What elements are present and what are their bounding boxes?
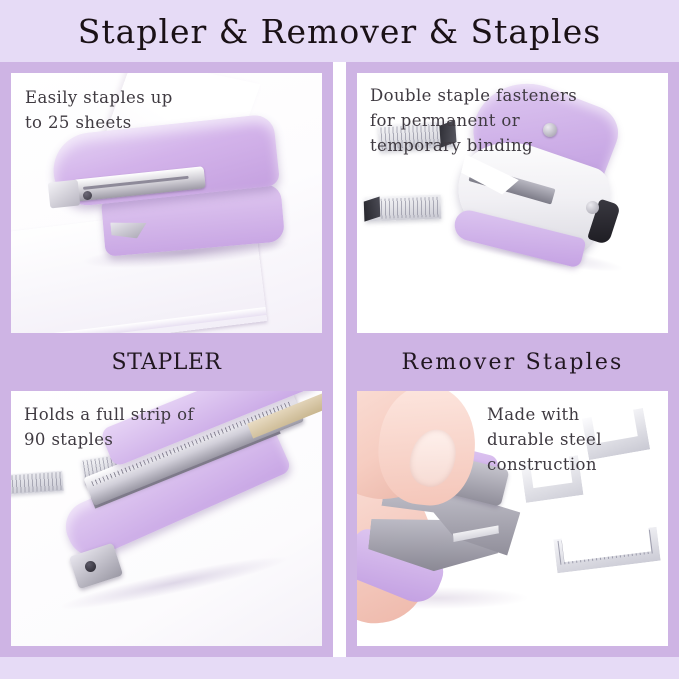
staple-strip (553, 527, 660, 573)
right-column: Double staple fasteners for permanent or… (346, 62, 679, 657)
panel-top-right: Double staple fasteners for permanent or… (346, 62, 679, 344)
staple-strip-far (11, 471, 64, 495)
photo-hand-with-remover: Made with durable steel construction (357, 391, 668, 646)
photo-stapler-on-paper: Easily staples up to 25 sheets (11, 73, 322, 333)
stapler-anvil (48, 180, 81, 209)
photo-remover-and-staples: Double staple fasteners for permanent or… (357, 73, 668, 333)
panel-top-left: Easily staples up to 25 sheets (0, 62, 333, 344)
panel-grid: Easily staples up to 25 sheets STAPLER (0, 62, 679, 657)
overlay-text-top-right: Double staple fasteners for permanent or… (370, 83, 577, 158)
page-title: Stapler & Remover & Staples (0, 0, 679, 62)
caption-left: STAPLER (0, 344, 333, 380)
staple-ribs (381, 197, 440, 219)
overlay-text-bottom-left: Holds a full strip of 90 staples (24, 402, 194, 452)
overlay-text-bottom-right: Made with durable steel construction (487, 402, 602, 477)
staple-block-lower (365, 195, 442, 222)
overlay-text-top-left: Easily staples up to 25 sheets (25, 85, 173, 135)
remover-rivet-lower (586, 201, 599, 214)
caption-right: Remover Staples (346, 344, 679, 380)
product-infographic: Stapler & Remover & Staples Easily stapl… (0, 0, 679, 679)
column-gutter (333, 62, 346, 657)
left-column: Easily staples up to 25 sheets STAPLER (0, 62, 333, 657)
panel-bottom-right: Made with durable steel construction (346, 380, 679, 657)
stapler-hinge-pin (85, 561, 96, 572)
panel-bottom-left: Holds a full strip of 90 staples (0, 380, 333, 657)
staple-block-end (364, 197, 381, 222)
photo-stapler-open-magazine: Holds a full strip of 90 staples (11, 391, 322, 646)
stapler-pin (83, 191, 92, 200)
